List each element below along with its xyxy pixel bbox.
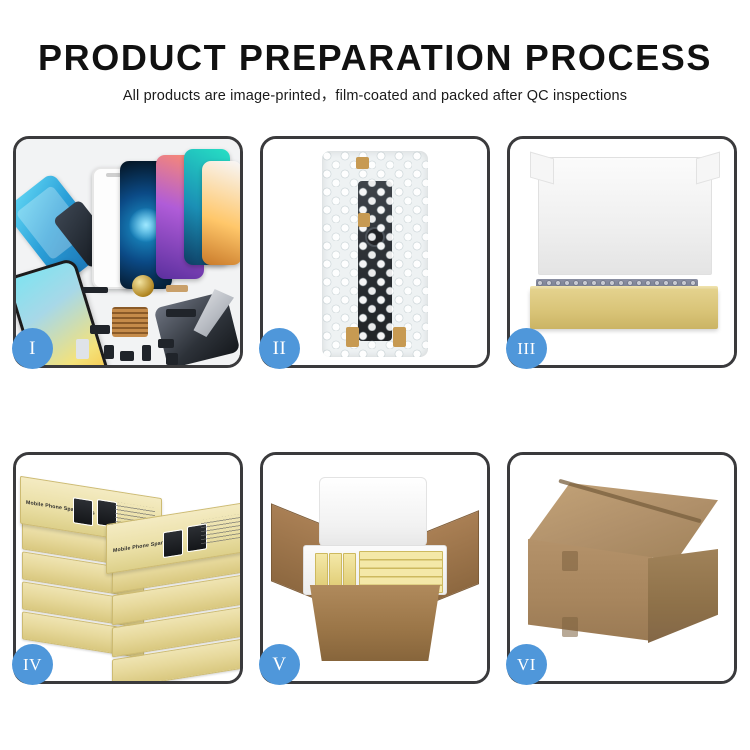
page-subtitle: All products are image-printed，film-coat… (0, 86, 750, 106)
tape-icon (393, 327, 406, 347)
step-4-image: Mobile Phone Spare Parts Mobile Phone Sp… (16, 455, 240, 681)
product-preparation-page: PRODUCT PREPARATION PROCESS All products… (0, 0, 750, 750)
foam-lid-icon (319, 477, 427, 547)
step-panel-2[interactable]: II (260, 136, 490, 368)
step-badge-5: V (259, 644, 300, 685)
step-panel-4[interactable]: Mobile Phone Spare Parts Mobile Phone Sp… (13, 452, 243, 684)
step-5-image (263, 455, 487, 681)
step-badge-6: VI (506, 644, 547, 685)
step-panel-6[interactable]: VI (507, 452, 737, 684)
tape-icon (356, 157, 369, 169)
step-badge-3: III (506, 328, 547, 369)
process-step-grid: I II III (13, 136, 737, 684)
spare-part-icon (82, 287, 108, 293)
box-artwork-swatch-icon (73, 497, 93, 526)
spare-part-icon (90, 325, 110, 334)
carton-side-icon (648, 549, 718, 643)
spare-part-icon (104, 345, 114, 359)
step-panel-3[interactable]: III (507, 136, 737, 368)
bubble-wrap-bag-icon (322, 151, 428, 357)
carton-tab-icon (562, 551, 578, 571)
step-3-image (510, 139, 734, 365)
chip-icon (112, 307, 148, 337)
speaker-coil-icon (132, 275, 154, 297)
page-header: PRODUCT PREPARATION PROCESS All products… (0, 36, 750, 106)
tape-icon (358, 213, 370, 227)
step-panel-1[interactable]: I (13, 136, 243, 368)
box-spec-lines-icon (201, 514, 240, 544)
box-artwork-swatch-icon (163, 529, 183, 558)
step-badge-4: IV (12, 644, 53, 685)
spare-part-icon (120, 351, 134, 361)
step-2-image (263, 139, 487, 365)
spare-part-icon (166, 353, 178, 365)
shipping-carton-icon (301, 585, 449, 661)
box-lid-icon (538, 157, 712, 275)
page-title: PRODUCT PREPARATION PROCESS (0, 36, 750, 80)
spare-part-icon (158, 339, 174, 348)
step-badge-1: I (12, 328, 53, 369)
box-stack-icon: Mobile Phone Spare Parts Mobile Phone Sp… (20, 473, 240, 669)
bubble-texture-icon (322, 151, 428, 357)
kraft-box-tray-icon (530, 289, 718, 329)
phone-screen-gold-icon (202, 161, 240, 265)
step-badge-2: II (259, 328, 300, 369)
spare-part-icon (166, 309, 196, 317)
tape-icon (346, 327, 359, 347)
carton-tab-icon (562, 617, 578, 637)
spare-part-icon (76, 339, 89, 359)
step-6-image (510, 455, 734, 681)
spare-part-icon (166, 285, 188, 292)
spare-part-icon (142, 345, 151, 361)
step-panel-5[interactable]: V (260, 452, 490, 684)
step-1-image (16, 139, 240, 365)
